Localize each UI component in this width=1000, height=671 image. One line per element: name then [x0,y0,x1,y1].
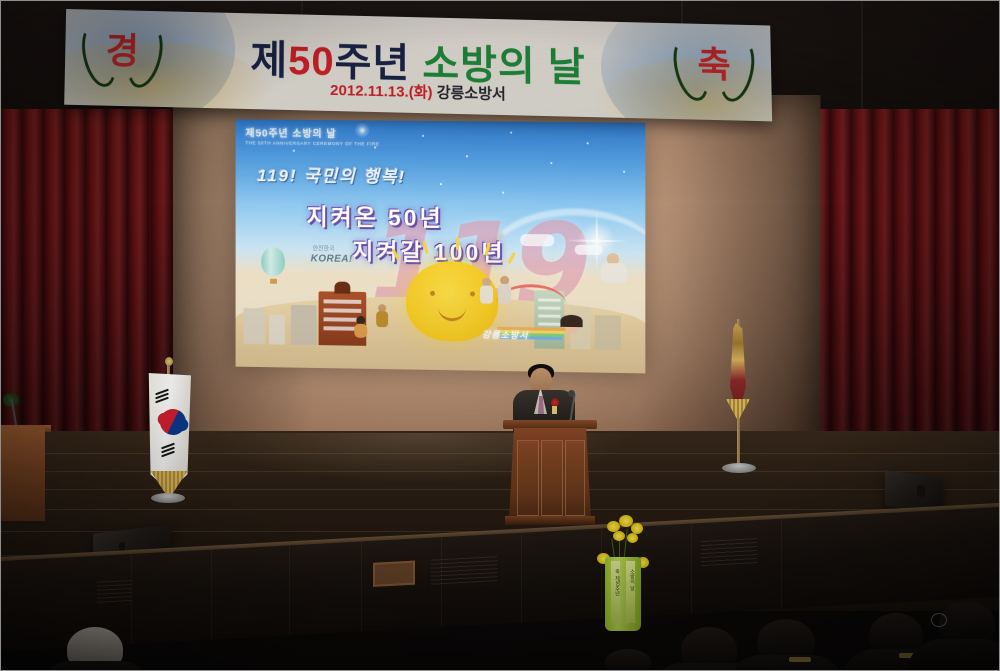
vent-grille [97,580,131,604]
banner-organization: 강릉소방서 [437,84,506,103]
vent-grille [701,538,757,567]
podium-body [509,428,591,520]
building [269,314,285,344]
person-body [601,263,627,283]
firefighter-body [376,311,388,327]
girl-hair [560,315,582,327]
building [291,305,317,345]
stage-wall-plate [373,561,415,587]
eyeglasses [931,613,947,627]
ribbon-text-right: 소방의 날 [626,569,635,590]
audience-head [605,649,651,671]
corsage-ribbon [552,406,557,414]
cloud-icon [575,245,603,255]
slide-korea-english: KOREA! [311,253,353,264]
person-body [498,284,511,304]
podium-top [503,420,597,429]
flag-stand-right [722,463,756,473]
child-body [354,324,367,338]
banner-date: 2012.11.13.(화) [330,82,432,101]
cloud-icon [520,234,554,246]
slide-tagline: 119! 국민의 행복! [257,161,406,187]
slide-headline-1: 지켜온 50년 [307,198,444,233]
slide-korea-korean: 안전한국 [313,243,335,252]
building-roof [334,282,350,294]
uniform-epaulet [789,657,811,662]
header-sparkle-icon [354,122,370,138]
flower-vase: 축 제50주년 소방의 날 [605,557,641,631]
side-lectern [1,425,45,521]
flag-stand-left [151,493,185,503]
building [595,315,621,350]
slide-signature: 강릉소방서 [482,328,529,342]
podium-microphone [568,390,575,397]
ceremony-photograph: 119 제50주년 소방의 날 THE 50TH ANNIVERSARY CER… [0,0,1000,671]
projected-slide: 119 제50주년 소방의 날 THE 50TH ANNIVERSARY CER… [236,119,646,373]
ribbon-text-left: 축 제50주년 [611,569,620,596]
balloon-basket [270,279,277,284]
slide-headline-2: 지켜갈 100년 [352,232,505,268]
person-body [480,286,493,304]
ceremony-banner: 경 축 제50주년 소방의 날 2012.11.13.(화) 강릉소방서 [64,9,772,121]
hot-air-balloon-icon [261,247,285,276]
podium-base [505,516,595,525]
building [243,308,265,344]
podium [507,420,593,525]
vent-grille [431,556,497,588]
